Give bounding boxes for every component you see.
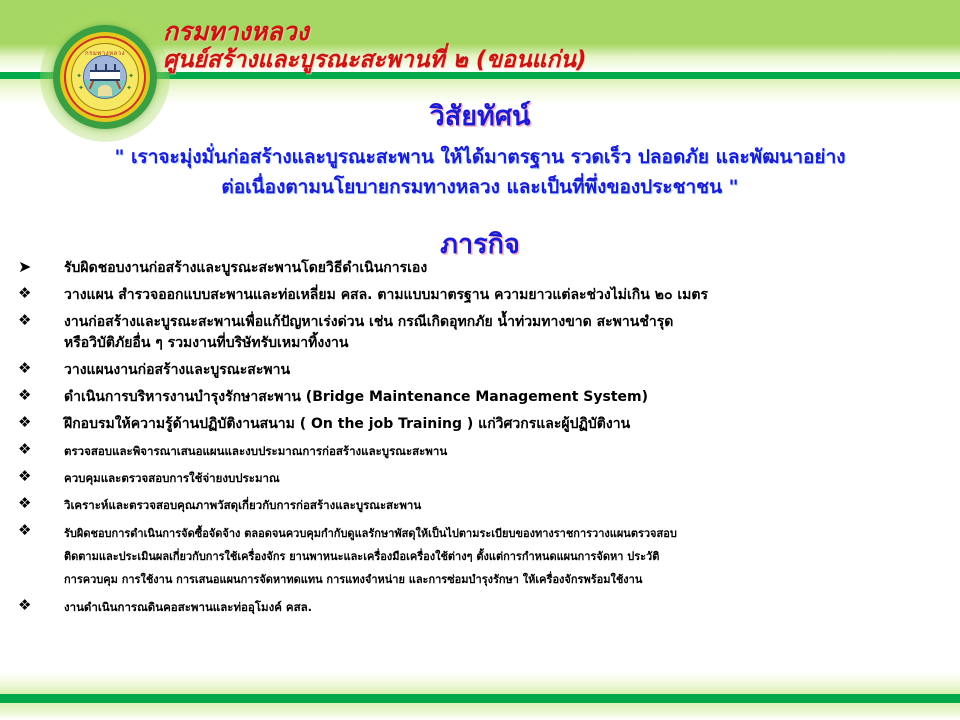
diamond-bullet-icon: ❖ (18, 468, 64, 484)
organization-subtitle: ศูนย์สร้างและบูรณะสะพานที่ ๒ (ขอนแก่น) (163, 42, 587, 78)
mission-item: ❖ดำเนินการบริหารงานบำรุงรักษาสะพาน (Brid… (0, 387, 960, 408)
document-page: กรมทางหลวง ✦ ✦ ✦ ✦ (0, 0, 960, 720)
mission-item-text: ควบคุมและตรวจสอบการใช้จ่ายงบประมาณ (64, 468, 946, 489)
mission-item: ❖วิเคราะห์และตรวจสอบคุณภาพวัสดุเกี่ยวกับ… (0, 495, 960, 516)
mission-list: ➤รับผิดชอบงานก่อสร้างและบูรณะสะพานโดยวิธ… (0, 258, 960, 624)
mission-item-text: ดำเนินการบริหารงานบำรุงรักษาสะพาน (Bridg… (64, 387, 946, 408)
mission-item: ❖งานก่อสร้างและบูรณะสะพานเพื่อแก้ปัญหาเร… (0, 312, 960, 354)
mission-item: ❖ควบคุมและตรวจสอบการใช้จ่ายงบประมาณ (0, 468, 960, 489)
mission-item-line: รับผิดชอบการดำเนินการจัดซื้อจัดจ้าง ตลอด… (64, 522, 946, 545)
mission-item-text: รับผิดชอบงานก่อสร้างและบูรณะสะพานโดยวิธี… (64, 258, 946, 279)
mission-item-line: ฝึกอบรมให้ความรู้ด้านปฏิบัติงานสนาม ( On… (64, 414, 946, 435)
diamond-bullet-icon: ❖ (18, 495, 64, 511)
vision-line-2: ต่อเนื่องตามนโยบายกรมทางหลวง และเป็นที่พ… (30, 172, 930, 202)
mission-item: ❖วางแผนงานก่อสร้างและบูรณะสะพาน (0, 360, 960, 381)
mission-item: ❖งานดำเนินการณดินคอสะพานและท่ออุโมงค์ คส… (0, 597, 960, 618)
mission-item-line: งานก่อสร้างและบูรณะสะพานเพื่อแก้ปัญหาเร่… (64, 312, 946, 333)
diamond-bullet-icon: ❖ (18, 360, 64, 376)
seal-star-lower-right-icon: ✦ (126, 86, 132, 92)
mission-item-line: ติดตามและประเมินผลเกี่ยวกับการใช้เครื่อง… (64, 545, 946, 568)
mission-item: ➤รับผิดชอบงานก่อสร้างและบูรณะสะพานโดยวิธ… (0, 258, 960, 279)
mission-item: ❖ตรวจสอบและพิจารณาเสนอแผนและงบประมาณการก… (0, 441, 960, 462)
mission-item-text: ฝึกอบรมให้ความรู้ด้านปฏิบัติงานสนาม ( On… (64, 414, 946, 435)
mission-item-line: การควบคุม การใช้งาน การเสนอแผนการจัดหาทด… (64, 568, 946, 591)
mission-item: ❖วางแผน สำรวจออกแบบสะพานและท่อเหลี่ยม คส… (0, 285, 960, 306)
diamond-bullet-icon: ❖ (18, 387, 64, 403)
diamond-bullet-icon: ❖ (18, 414, 64, 430)
mission-item-line: ดำเนินการบริหารงานบำรุงรักษาสะพาน (Bridg… (64, 387, 946, 408)
seal-bridge-emblem-icon (83, 55, 127, 99)
vision-heading: วิสัยทัศน์ (0, 94, 960, 137)
mission-item-line: วางแผน สำรวจออกแบบสะพานและท่อเหลี่ยม คสล… (64, 285, 946, 306)
mission-item-text: รับผิดชอบการดำเนินการจัดซื้อจัดจ้าง ตลอด… (64, 522, 946, 591)
mission-item-line: งานดำเนินการณดินคอสะพานและท่ออุโมงค์ คสล… (64, 597, 946, 618)
mission-item-line: ควบคุมและตรวจสอบการใช้จ่ายงบประมาณ (64, 468, 946, 489)
mission-item-line: วิเคราะห์และตรวจสอบคุณภาพวัสดุเกี่ยวกับก… (64, 495, 946, 516)
mission-item-line: หรือวิบัติภัยอื่น ๆ รวมงานที่บริษัทรับเห… (64, 333, 946, 354)
diamond-bullet-icon: ❖ (18, 312, 64, 328)
mission-item-text: งานก่อสร้างและบูรณะสะพานเพื่อแก้ปัญหาเร่… (64, 312, 946, 354)
diamond-bullet-icon: ❖ (18, 522, 64, 538)
vision-line-1: " เราจะมุ่งมั่นก่อสร้างและบูรณะสะพาน ให้… (30, 142, 930, 172)
diamond-bullet-icon: ❖ (18, 441, 64, 457)
vision-statement: " เราจะมุ่งมั่นก่อสร้างและบูรณะสะพาน ให้… (30, 142, 930, 202)
mission-item-line: วางแผนงานก่อสร้างและบูรณะสะพาน (64, 360, 946, 381)
mission-item-line: ตรวจสอบและพิจารณาเสนอแผนและงบประมาณการก่… (64, 441, 946, 462)
mission-item: ❖รับผิดชอบการดำเนินการจัดซื้อจัดจ้าง ตลอ… (0, 522, 960, 591)
diamond-bullet-icon: ❖ (18, 285, 64, 301)
mission-item-line: รับผิดชอบงานก่อสร้างและบูรณะสะพานโดยวิธี… (64, 258, 946, 279)
mission-item: ❖ฝึกอบรมให้ความรู้ด้านปฏิบัติงานสนาม ( O… (0, 414, 960, 435)
bottom-band-fade-upper (0, 672, 960, 694)
bottom-band-fade-lower (0, 703, 960, 720)
mission-item-text: ตรวจสอบและพิจารณาเสนอแผนและงบประมาณการก่… (64, 441, 946, 462)
mission-item-text: วางแผนงานก่อสร้างและบูรณะสะพาน (64, 360, 946, 381)
mission-item-text: งานดำเนินการณดินคอสะพานและท่ออุโมงค์ คสล… (64, 597, 946, 618)
arrow-bullet-icon: ➤ (18, 258, 64, 275)
mission-item-text: วางแผน สำรวจออกแบบสะพานและท่อเหลี่ยม คสล… (64, 285, 946, 306)
bottom-green-rule (0, 694, 960, 703)
mission-item-text: วิเคราะห์และตรวจสอบคุณภาพวัสดุเกี่ยวกับก… (64, 495, 946, 516)
seal-star-left-icon: ✦ (76, 74, 82, 80)
diamond-bullet-icon: ❖ (18, 597, 64, 613)
seal-star-right-icon: ✦ (128, 74, 134, 80)
